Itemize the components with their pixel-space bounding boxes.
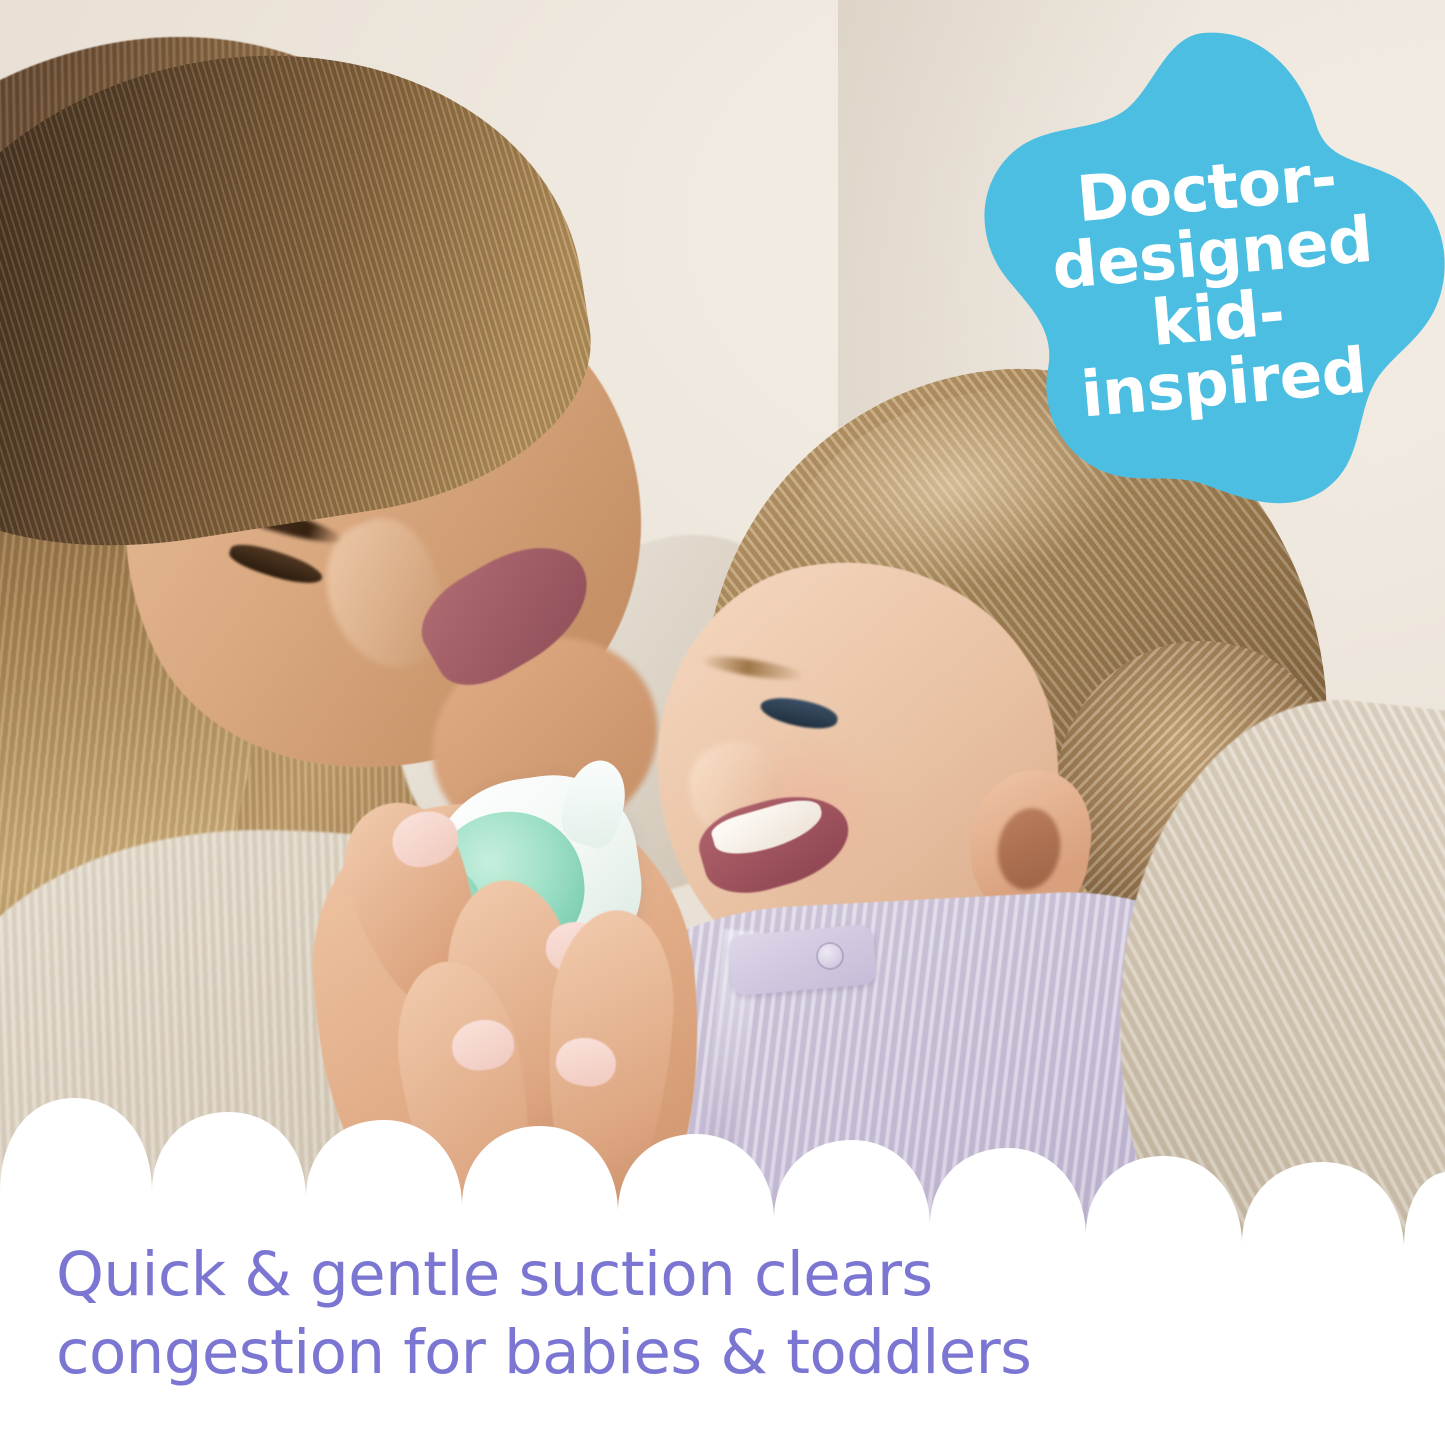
- caption-line-1: Quick & gentle suction clears: [56, 1236, 1396, 1314]
- product-image-canvas: Doctor- designed kid- inspired Quick & g…: [0, 0, 1445, 1445]
- toddler-shirt-flap: [728, 924, 878, 996]
- caption-text: Quick & gentle suction clears congestion…: [56, 1236, 1396, 1392]
- caption-line-2: congestion for babies & toddlers: [56, 1314, 1396, 1392]
- lifestyle-photo: Doctor- designed kid- inspired: [0, 0, 1445, 1260]
- toddler-shirt-button: [816, 942, 844, 970]
